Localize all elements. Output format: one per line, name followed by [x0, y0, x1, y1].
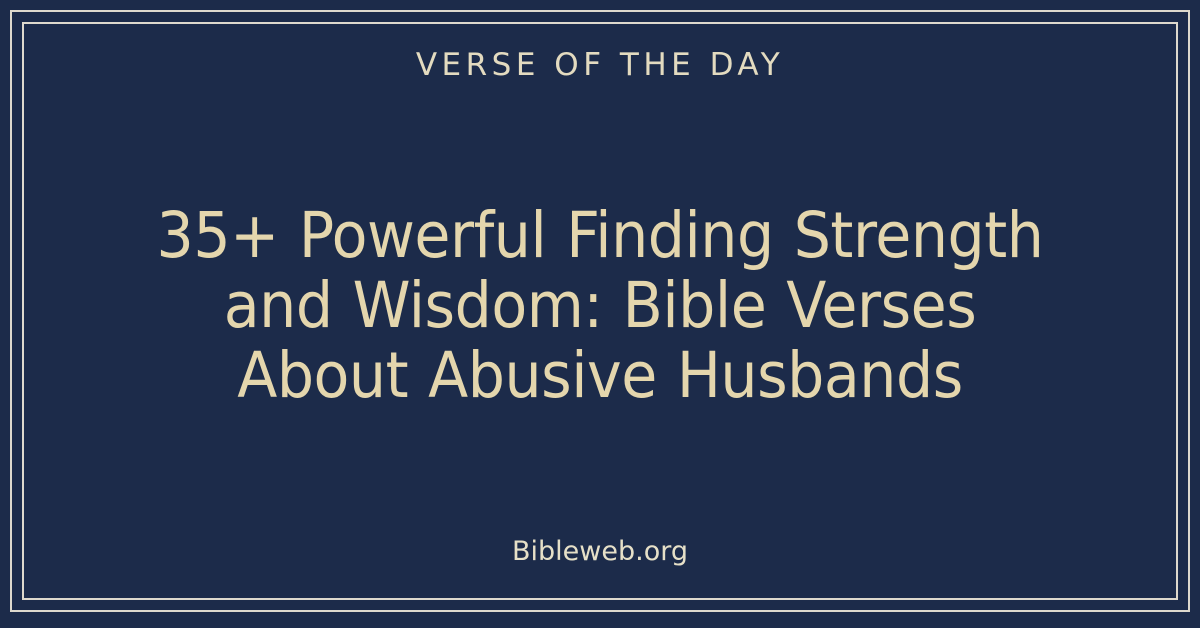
verse-of-the-day-card: VERSE OF THE DAY 35+ Powerful Finding St…	[0, 0, 1200, 628]
eyebrow-label: VERSE OF THE DAY	[416, 46, 784, 84]
site-attribution: Bibleweb.org	[512, 536, 688, 568]
page-title: 35+ Powerful Finding Strength and Wisdom…	[130, 201, 1069, 411]
title-container: 35+ Powerful Finding Strength and Wisdom…	[24, 84, 1176, 536]
card-content: VERSE OF THE DAY 35+ Powerful Finding St…	[24, 24, 1176, 598]
